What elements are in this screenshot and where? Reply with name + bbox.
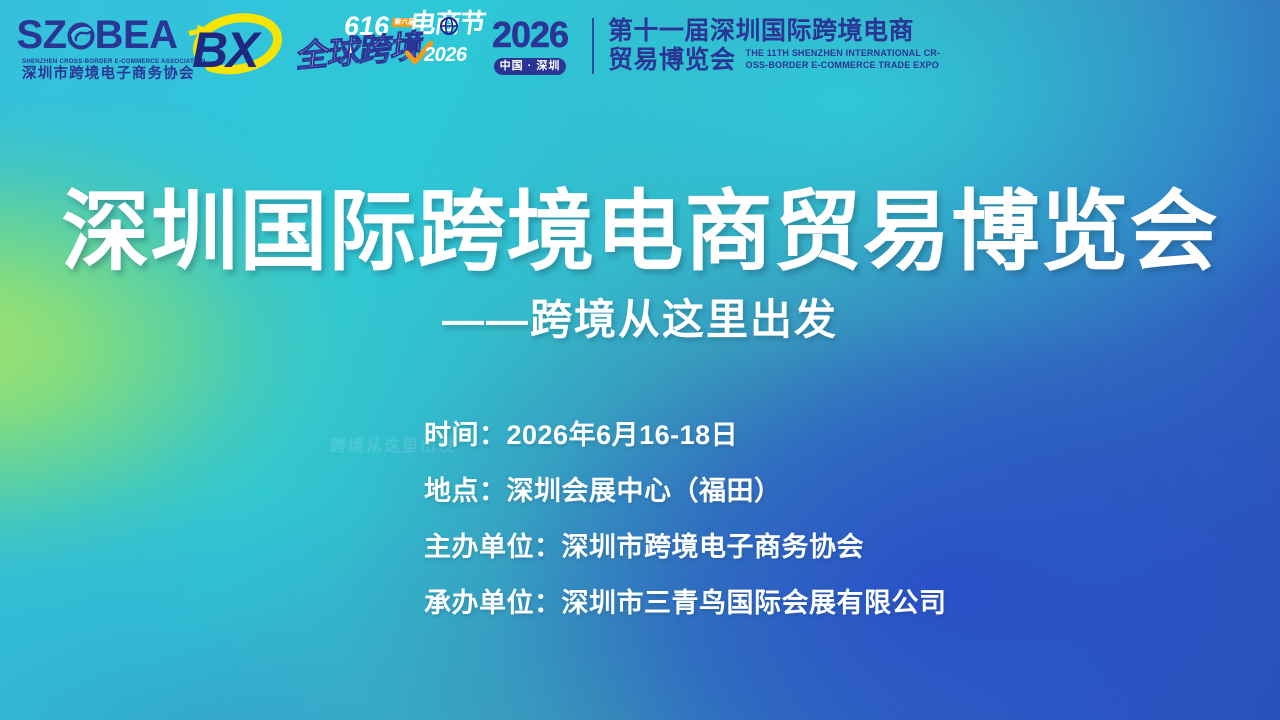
event-info-organizer: 主办单位：深圳市跨境电子商务协会 <box>424 534 947 561</box>
year-number: 2026 <box>482 17 578 53</box>
bx-logo[interactable]: BX <box>184 7 292 85</box>
swirl-e-icon <box>66 20 96 50</box>
expo-name-line2: 贸易博览会 <box>608 48 736 73</box>
expo-english-name: THE 11TH SHENZHEN INTERNATIONAL CR- OSS-… <box>746 48 941 74</box>
festival-616-logo[interactable]: 616 第六届 电商节 全球跨境 2026 <box>296 9 474 83</box>
year-block-logo[interactable]: 2026 中国 · 深圳 <box>482 17 578 76</box>
page-title: 深圳国际跨境电商贸易博览会 <box>0 186 1280 278</box>
szcbea-wordmark-left: SZ <box>16 15 66 55</box>
bx-wordmark: BX <box>192 25 257 75</box>
event-info-block: 时间：2026年6月16-18日 地点：深圳会展中心（福田） 主办单位：深圳市跨… <box>424 422 947 617</box>
globe-icon <box>438 15 460 37</box>
szcbea-english-name: SHENZHEN CROSS-BORDER E-COMMERCE ASSOCIA… <box>22 59 172 65</box>
szcbea-logo[interactable]: SZ BEA SHENZHEN CROSS-BORDER E-COMMERCE … <box>22 10 172 82</box>
szcbea-chinese-name: 深圳市跨境电子商务协会 <box>22 67 172 82</box>
event-info-date: 时间：2026年6月16-18日 <box>424 422 947 449</box>
event-info-host: 承办单位：深圳市三青鸟国际会展有限公司 <box>424 590 947 617</box>
szcbea-wordmark: SZ BEA <box>22 14 172 56</box>
expo-name-line1: 第十一届深圳国际跨境电商 <box>608 19 940 44</box>
location-badge: 中国 · 深圳 <box>494 58 567 76</box>
event-info-venue: 地点：深圳会展中心（福田） <box>424 478 947 505</box>
logo-group: SZ BEA SHENZHEN CROSS-BORDER E-COMMERCE … <box>22 7 940 85</box>
header-logo-bar: SZ BEA SHENZHEN CROSS-BORDER E-COMMERCE … <box>0 0 1280 92</box>
expo-name-logo[interactable]: 第十一届深圳国际跨境电商 贸易博览会 THE 11TH SHENZHEN INT… <box>608 19 940 74</box>
page-subtitle: ——跨境从这里出发 <box>0 297 1280 343</box>
szcbea-wordmark-right: BEA <box>95 15 178 55</box>
expo-poster: SZ BEA SHENZHEN CROSS-BORDER E-COMMERCE … <box>0 0 1280 720</box>
expo-english-line2: OSS-BORDER E-COMMERCE TRADE EXPO <box>746 60 941 72</box>
expo-english-line1: THE 11TH SHENZHEN INTERNATIONAL CR- <box>746 48 941 60</box>
expo-name-row2: 贸易博览会 THE 11TH SHENZHEN INTERNATIONAL CR… <box>608 48 940 74</box>
logo-divider <box>592 18 594 74</box>
festival-year: 2026 <box>424 45 467 65</box>
